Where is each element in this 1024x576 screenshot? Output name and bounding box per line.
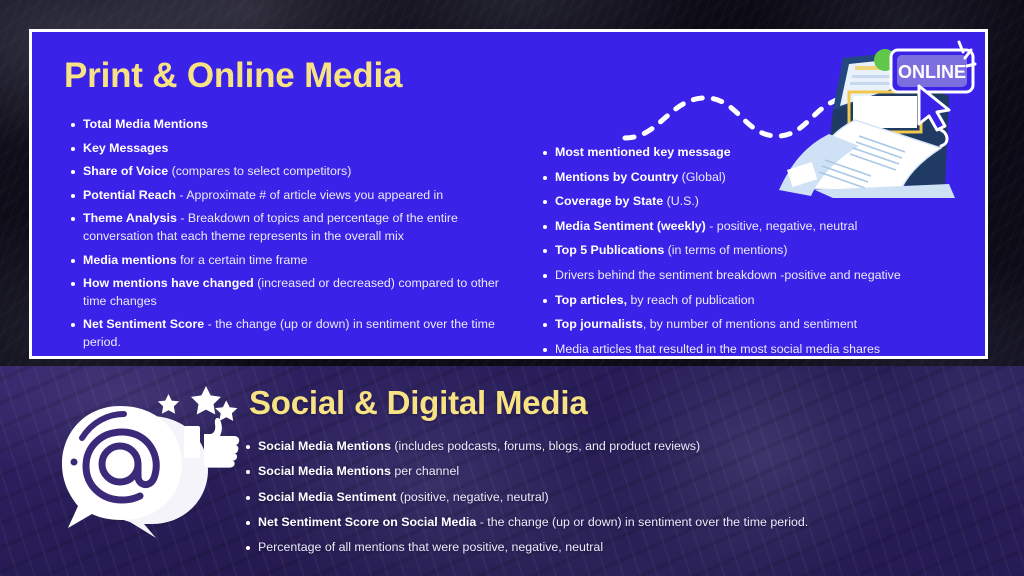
social-digital-media-title: Social & Digital Media — [249, 384, 588, 422]
social-digital-bullet-list: Social Media Mentions (includes podcasts… — [245, 438, 945, 557]
bullet-term: Most mentioned key message — [555, 145, 731, 159]
bullet-term: Media Sentiment (weekly) — [555, 219, 706, 233]
cursor-pointer-icon — [919, 86, 949, 146]
bullet-term: Total Media Mentions — [83, 117, 208, 131]
bullet-item: Net Sentiment Score on Social Media - th… — [245, 514, 945, 531]
bullet-detail: per channel — [391, 464, 459, 478]
bullet-term: Top articles, — [555, 293, 627, 307]
print-online-left-bullet-list: Total Media MentionsKey MessagesShare of… — [70, 116, 525, 352]
bullet-detail: by reach of publication — [627, 293, 754, 307]
dashed-trail-icon — [625, 98, 847, 138]
bullet-detail: (in terms of mentions) — [664, 243, 787, 257]
bullet-detail: Percentage of all mentions that were pos… — [258, 540, 603, 554]
bullet-item: Most mentioned key message — [542, 144, 972, 162]
bullet-term: Theme Analysis — [83, 211, 177, 225]
bullet-item: Social Media Mentions per channel — [245, 463, 945, 480]
bullet-term: How mentions have changed — [83, 276, 254, 290]
bullet-detail: for a certain time frame — [177, 253, 308, 267]
bullet-term: Top journalists — [555, 317, 643, 331]
print-online-media-title: Print & Online Media — [64, 56, 402, 96]
bullet-item: Top articles, by reach of publication — [542, 292, 972, 310]
sparkle-icon — [959, 42, 975, 66]
bullet-term: Key Messages — [83, 141, 168, 155]
bullet-item: Drivers behind the sentiment breakdown -… — [542, 267, 972, 285]
bullet-item: Coverage by State (U.S.) — [542, 193, 972, 211]
bullet-item: Social Media Mentions (includes podcasts… — [245, 438, 945, 455]
bullet-item: Share of Voice (compares to select compe… — [70, 163, 525, 181]
bullet-item: Mentions by Country (Global) — [542, 169, 972, 187]
bullet-term: Social Media Mentions — [258, 439, 391, 453]
social-digital-bullet-column: Social Media Mentions (includes podcasts… — [245, 438, 945, 565]
bullet-item: Total Media Mentions — [70, 116, 525, 134]
bullet-detail: , by number of mentions and sentiment — [643, 317, 857, 331]
bullet-detail: (U.S.) — [663, 194, 699, 208]
bullet-term: Mentions by Country — [555, 170, 678, 184]
bullet-term: Net Sentiment Score — [83, 317, 204, 331]
bullet-item: Social Media Sentiment (positive, negati… — [245, 489, 945, 506]
bullet-item: Top 5 Publications (in terms of mentions… — [542, 242, 972, 260]
bullet-detail: (includes podcasts, forums, blogs, and p… — [391, 439, 700, 453]
bullet-detail: (positive, negative, neutral) — [396, 490, 548, 504]
print-online-left-column: Total Media MentionsKey MessagesShare of… — [70, 116, 525, 358]
bullet-item: Theme Analysis - Breakdown of topics and… — [70, 210, 525, 245]
bullet-term: Coverage by State — [555, 194, 663, 208]
bullet-term: Social Media Mentions — [258, 464, 391, 478]
bullet-detail: - the change (up or down) in sentiment o… — [476, 515, 808, 529]
bullet-term: Share of Voice — [83, 164, 168, 178]
bullet-item: Percentage of all mentions that were pos… — [245, 539, 945, 556]
bullet-detail: - Approximate # of article views you app… — [176, 188, 443, 202]
bullet-item: Top journalists, by number of mentions a… — [542, 316, 972, 334]
bullet-item: Net Sentiment Score - the change (up or … — [70, 316, 525, 351]
bullet-detail: - positive, negative, neutral — [706, 219, 858, 233]
online-badge: ONLINE — [891, 50, 973, 92]
bullet-item: Media articles that resulted in the most… — [542, 341, 972, 359]
print-online-right-column: Most mentioned key messageMentions by Co… — [542, 144, 972, 359]
bullet-detail: (compares to select competitors) — [168, 164, 351, 178]
print-online-right-bullet-list: Most mentioned key messageMentions by Co… — [542, 144, 972, 358]
online-badge-label: ONLINE — [898, 62, 966, 82]
bullet-detail: Media articles that resulted in the most… — [555, 342, 880, 356]
bullet-item: Key Messages — [70, 140, 525, 158]
print-online-media-panel: Print & Online Media — [29, 29, 988, 359]
infographic-slide: Print & Online Media — [0, 0, 1024, 576]
bullet-item: Media mentions for a certain time frame — [70, 252, 525, 270]
bullet-item: Potential Reach - Approximate # of artic… — [70, 187, 525, 205]
bullet-detail: Drivers behind the sentiment breakdown -… — [555, 268, 901, 282]
bullet-item: How mentions have changed (increased or … — [70, 275, 525, 310]
bullet-term: Social Media Sentiment — [258, 490, 396, 504]
status-dot-icon — [874, 49, 896, 71]
bullet-detail: (Global) — [678, 170, 726, 184]
bullet-term: Potential Reach — [83, 188, 176, 202]
bullet-item: Media Sentiment (weekly) - positive, neg… — [542, 218, 972, 236]
bullet-term: Media mentions — [83, 253, 177, 267]
bullet-term: Net Sentiment Score on Social Media — [258, 515, 476, 529]
bullet-term: Top 5 Publications — [555, 243, 664, 257]
